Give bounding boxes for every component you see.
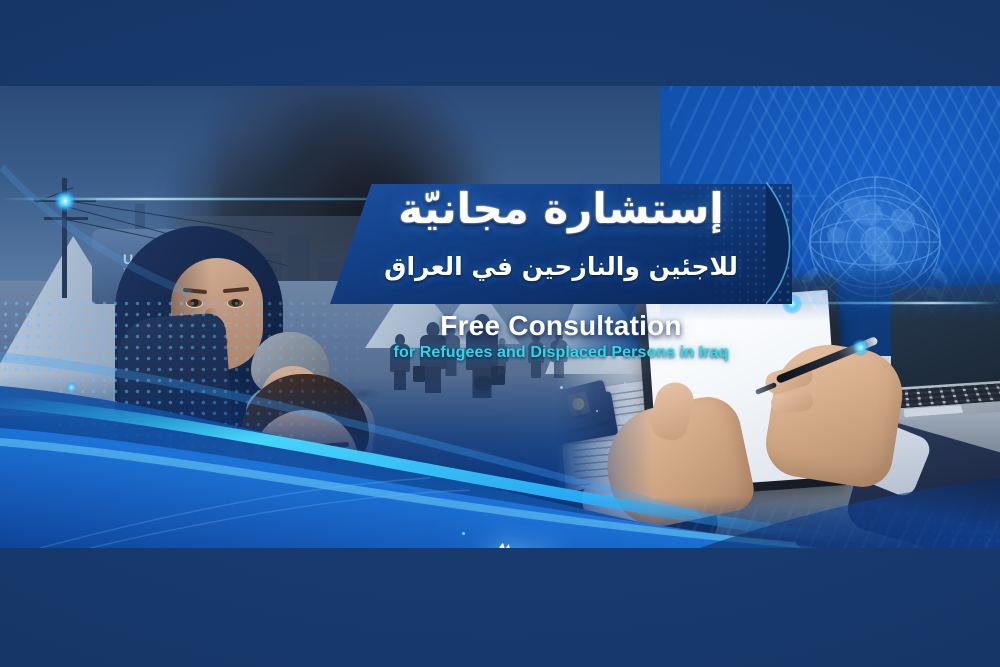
light-speck-1 — [560, 386, 563, 389]
headline-arabic: إستشارة مجانيّة — [330, 186, 792, 231]
subheadline-english: for Refugees and Displaced Persons in Ir… — [330, 344, 792, 362]
light-speck-2 — [596, 410, 598, 412]
dove-with-olive-branch-icon — [478, 534, 556, 548]
glow-point-camp — [66, 382, 77, 393]
subheadline-arabic: للاجئين والنازحين في العراق — [330, 252, 792, 281]
light-speck-6 — [462, 532, 465, 535]
glow-point-top-left — [54, 190, 76, 212]
headline-english: Free Consultation — [330, 310, 792, 342]
light-speck-3 — [624, 382, 626, 384]
glow-point-map — [852, 339, 869, 356]
promotional-banner: UNHCR The UN Refugee Agency — [0, 86, 1000, 548]
